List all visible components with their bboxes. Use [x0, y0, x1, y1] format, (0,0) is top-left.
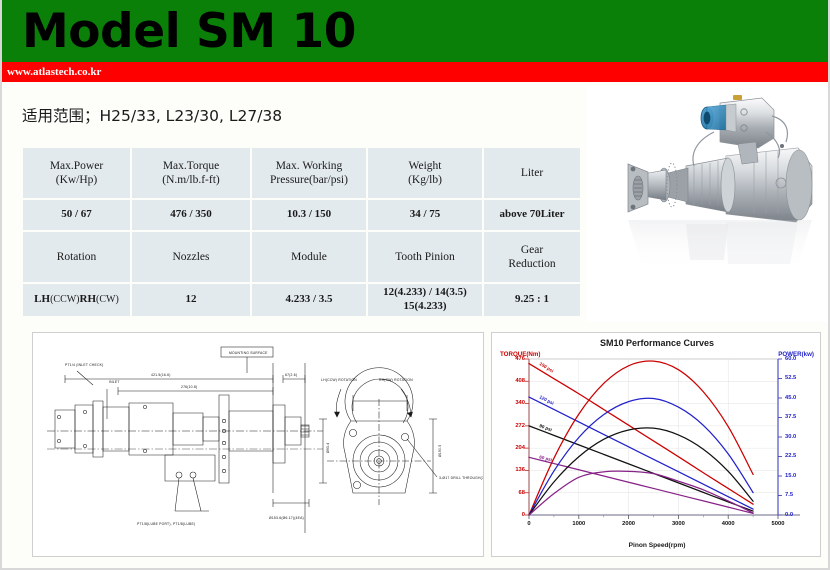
chart-x-axis-label: Pinon Speed(rpm)	[492, 542, 821, 549]
y-tick-left-272: 272	[496, 423, 525, 429]
cell-gear-reduction: Gear Reduction	[484, 232, 580, 282]
header-red-band	[2, 62, 830, 82]
cell-weight: Weight (Kg/lb)	[368, 148, 482, 198]
y-tick-right-52.5: 52.5	[785, 375, 811, 381]
y-tick-left-476: 476	[496, 356, 525, 362]
label-length-2: 276(10.8)	[181, 385, 197, 389]
applicable-range-text: 适用范围；H25/33, L23/30, L27/38	[22, 104, 282, 126]
cell-line1: Rotation	[57, 251, 97, 263]
value-weight: 34 / 75	[368, 200, 482, 230]
label-pt-air-inlet: PT1/4 (INLET CHECK)	[65, 363, 103, 367]
tooth-pinion-line2: 15(4.233)	[403, 300, 446, 312]
cell-line1: Weight	[409, 160, 442, 172]
value-max-working-pressure: 10.3 / 150	[252, 200, 366, 230]
y-tick-right-30.0: 30.0	[785, 434, 811, 440]
label-vert-dim: Ø190.5	[438, 445, 442, 457]
cell-line1: Max.Torque	[163, 160, 219, 172]
label-drill-note: 3-Ø17 DRILL THROUGH(3EA)	[439, 476, 483, 480]
label-dia-right: Ø93.4	[326, 443, 330, 453]
y-tick-right-15.0: 15.0	[785, 473, 811, 479]
value-nozzles: 12	[132, 284, 250, 316]
label-lh-rotation: LH(CCW) ROTATION	[321, 378, 357, 382]
y-tick-right-22.5: 22.5	[785, 453, 811, 459]
x-tick-2000: 2000	[616, 521, 642, 527]
rotation-ccw: (CCW)	[50, 294, 79, 305]
cell-line2: Pressure(bar/psi)	[270, 174, 348, 186]
x-tick-4000: 4000	[715, 521, 741, 527]
cell-line1: Gear	[521, 244, 543, 256]
x-tick-1000: 1000	[566, 521, 592, 527]
technical-drawing-panel: MOUNTING SURFACE 421.5(16.6) 276(10.8) 6…	[32, 332, 484, 557]
performance-chart-panel: SM10 Performance Curves TORQUE(Nm) POWER…	[491, 332, 821, 557]
value-tooth-pinion: 12(4.233) / 14(3.5) 15(4.233)	[368, 284, 482, 316]
value-liter: above 70Liter	[484, 200, 580, 230]
fitting-dot	[780, 144, 784, 148]
value-module: 4.233 / 3.5	[252, 284, 366, 316]
rotation-cw: (CW)	[96, 294, 119, 305]
cell-line2: (Kg/lb)	[408, 174, 442, 186]
cell-line1: Max.Power	[50, 160, 103, 172]
cell-rotation: Rotation	[23, 232, 130, 282]
cell-tooth-pinion: Tooth Pinion	[368, 232, 482, 282]
y-tick-right-7.5: 7.5	[785, 492, 811, 498]
label-rh-rotation: RH(CW) ROTATION	[379, 378, 413, 382]
value-rotation: LH(CCW)RH(CW)	[23, 284, 130, 316]
cell-line1: Max. Working	[276, 160, 343, 172]
rotation-rh: RH	[80, 293, 97, 305]
rotation-lh: LH	[34, 293, 50, 305]
table-row-values-1: 50 / 67 476 / 350 10.3 / 150 34 / 75 abo…	[23, 200, 580, 230]
page-title: Model SM 10	[22, 3, 356, 61]
x-tick-3000: 3000	[665, 521, 691, 527]
cell-max-torque: Max.Torque (N.m/lb.f-ft)	[132, 148, 250, 198]
value-max-power: 50 / 67	[23, 200, 130, 230]
motor-barrel	[686, 158, 735, 212]
slide-canvas: Model SM 10 www.atlastech.co.kr 适用范围；H25…	[0, 0, 830, 570]
y-tick-right-0.0: 0.0	[785, 512, 811, 518]
cell-line1: Module	[291, 251, 327, 263]
table-row-header-2: Rotation Nozzles Module Tooth Pinion Gea…	[23, 232, 580, 282]
product-photo	[586, 86, 830, 322]
y-tick-left-68: 68	[496, 490, 525, 496]
value-max-torque: 476 / 350	[132, 200, 250, 230]
x-tick-5000: 5000	[765, 521, 791, 527]
cell-max-working-pressure: Max. Working Pressure(bar/psi)	[252, 148, 366, 198]
cell-line1: Nozzles	[172, 251, 209, 263]
y-tick-left-0: 0	[496, 512, 525, 518]
tooth-pinion-line1: 12(4.233) / 14(3.5)	[383, 286, 467, 298]
cell-line1: Tooth Pinion	[395, 251, 455, 263]
company-url[interactable]: www.atlastech.co.kr	[7, 63, 101, 82]
table-row-values-2: LH(CCW)RH(CW) 12 4.233 / 3.5 12(4.233) /…	[23, 284, 580, 316]
chart-title: SM10 Performance Curves	[492, 338, 821, 348]
label-dia-bottom: Ø153.6(Ø6.17)(4EA)	[269, 516, 304, 520]
y-tick-left-408: 408	[496, 378, 525, 384]
y-tick-right-37.5: 37.5	[785, 414, 811, 420]
y-tick-left-204: 204	[496, 445, 525, 451]
cell-liter: Liter	[484, 148, 580, 198]
cell-line1: Liter	[521, 167, 543, 179]
label-mounting-surface: MOUNTING SURFACE	[229, 351, 268, 355]
y-tick-right-60.0: 60.0	[785, 356, 811, 362]
cell-module: Module	[252, 232, 366, 282]
label-lube-ports: PT1/8(LUBE PORT), PT1/8(LUBE)	[137, 522, 195, 526]
y-tick-right-45.0: 45.0	[785, 395, 811, 401]
y-tick-left-136: 136	[496, 467, 525, 473]
cell-line2: (Kw/Hp)	[56, 174, 98, 186]
technical-drawing-svg: MOUNTING SURFACE 421.5(16.6) 276(10.8) 6…	[33, 333, 483, 556]
cell-max-power: Max.Power (Kw/Hp)	[23, 148, 130, 198]
table-row-header-1: Max.Power (Kw/Hp) Max.Torque (N.m/lb.f-f…	[23, 148, 580, 198]
motor-body	[726, 148, 812, 222]
x-tick-0: 0	[516, 521, 542, 527]
product-photo-illustration	[586, 86, 830, 322]
specification-table: Max.Power (Kw/Hp) Max.Torque (N.m/lb.f-f…	[21, 146, 582, 318]
label-length-3: 67(2.6)	[285, 373, 297, 377]
label-inlet: INLET	[109, 380, 120, 384]
y-tick-left-340: 340	[496, 400, 525, 406]
cell-nozzles: Nozzles	[132, 232, 250, 282]
value-gear-reduction: 9.25 : 1	[484, 284, 580, 316]
cell-line2: Reduction	[508, 258, 555, 270]
photo-reflection	[628, 220, 812, 272]
cell-line2: (N.m/lb.f-ft)	[162, 174, 219, 186]
label-overall-length: 421.5(16.6)	[151, 373, 171, 377]
